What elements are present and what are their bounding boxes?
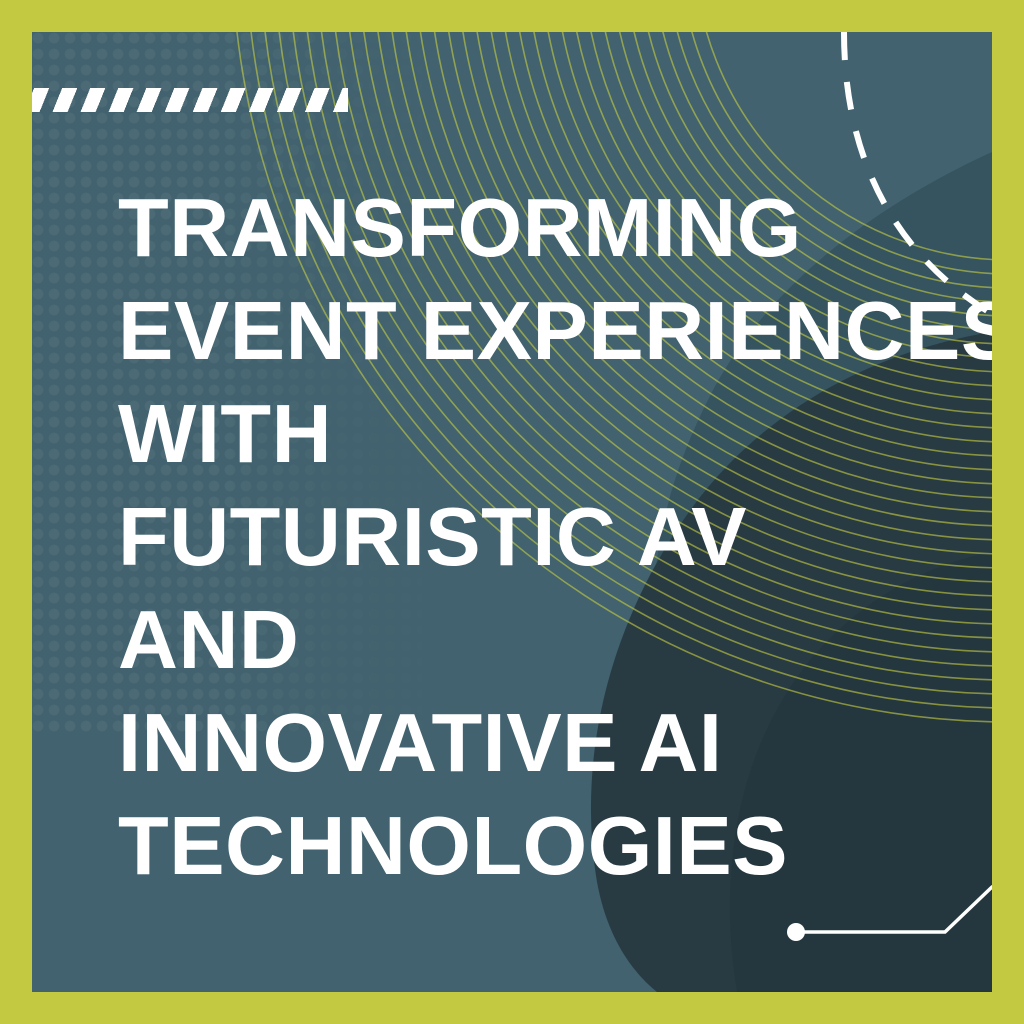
poster-card: TRANSFORMING EVENT EXPERIENCES WITH FUTU… bbox=[32, 32, 992, 992]
poster-canvas: TRANSFORMING EVENT EXPERIENCES WITH FUTU… bbox=[0, 0, 1024, 1024]
headline-line-7: TECHNOLOGIES bbox=[118, 794, 968, 897]
headline-line-3: WITH bbox=[118, 382, 968, 485]
page-title: TRANSFORMING EVENT EXPERIENCES WITH FUTU… bbox=[118, 176, 968, 897]
diagonal-stripe-bar bbox=[32, 88, 348, 112]
headline-line-5: AND bbox=[118, 588, 968, 691]
node-dot bbox=[787, 923, 805, 941]
headline-line-6: INNOVATIVE AI bbox=[118, 691, 968, 794]
headline-line-2: EVENT EXPERIENCES bbox=[118, 279, 968, 382]
headline-line-1: TRANSFORMING bbox=[118, 176, 968, 279]
headline-line-4: FUTURISTIC AV bbox=[118, 485, 968, 588]
